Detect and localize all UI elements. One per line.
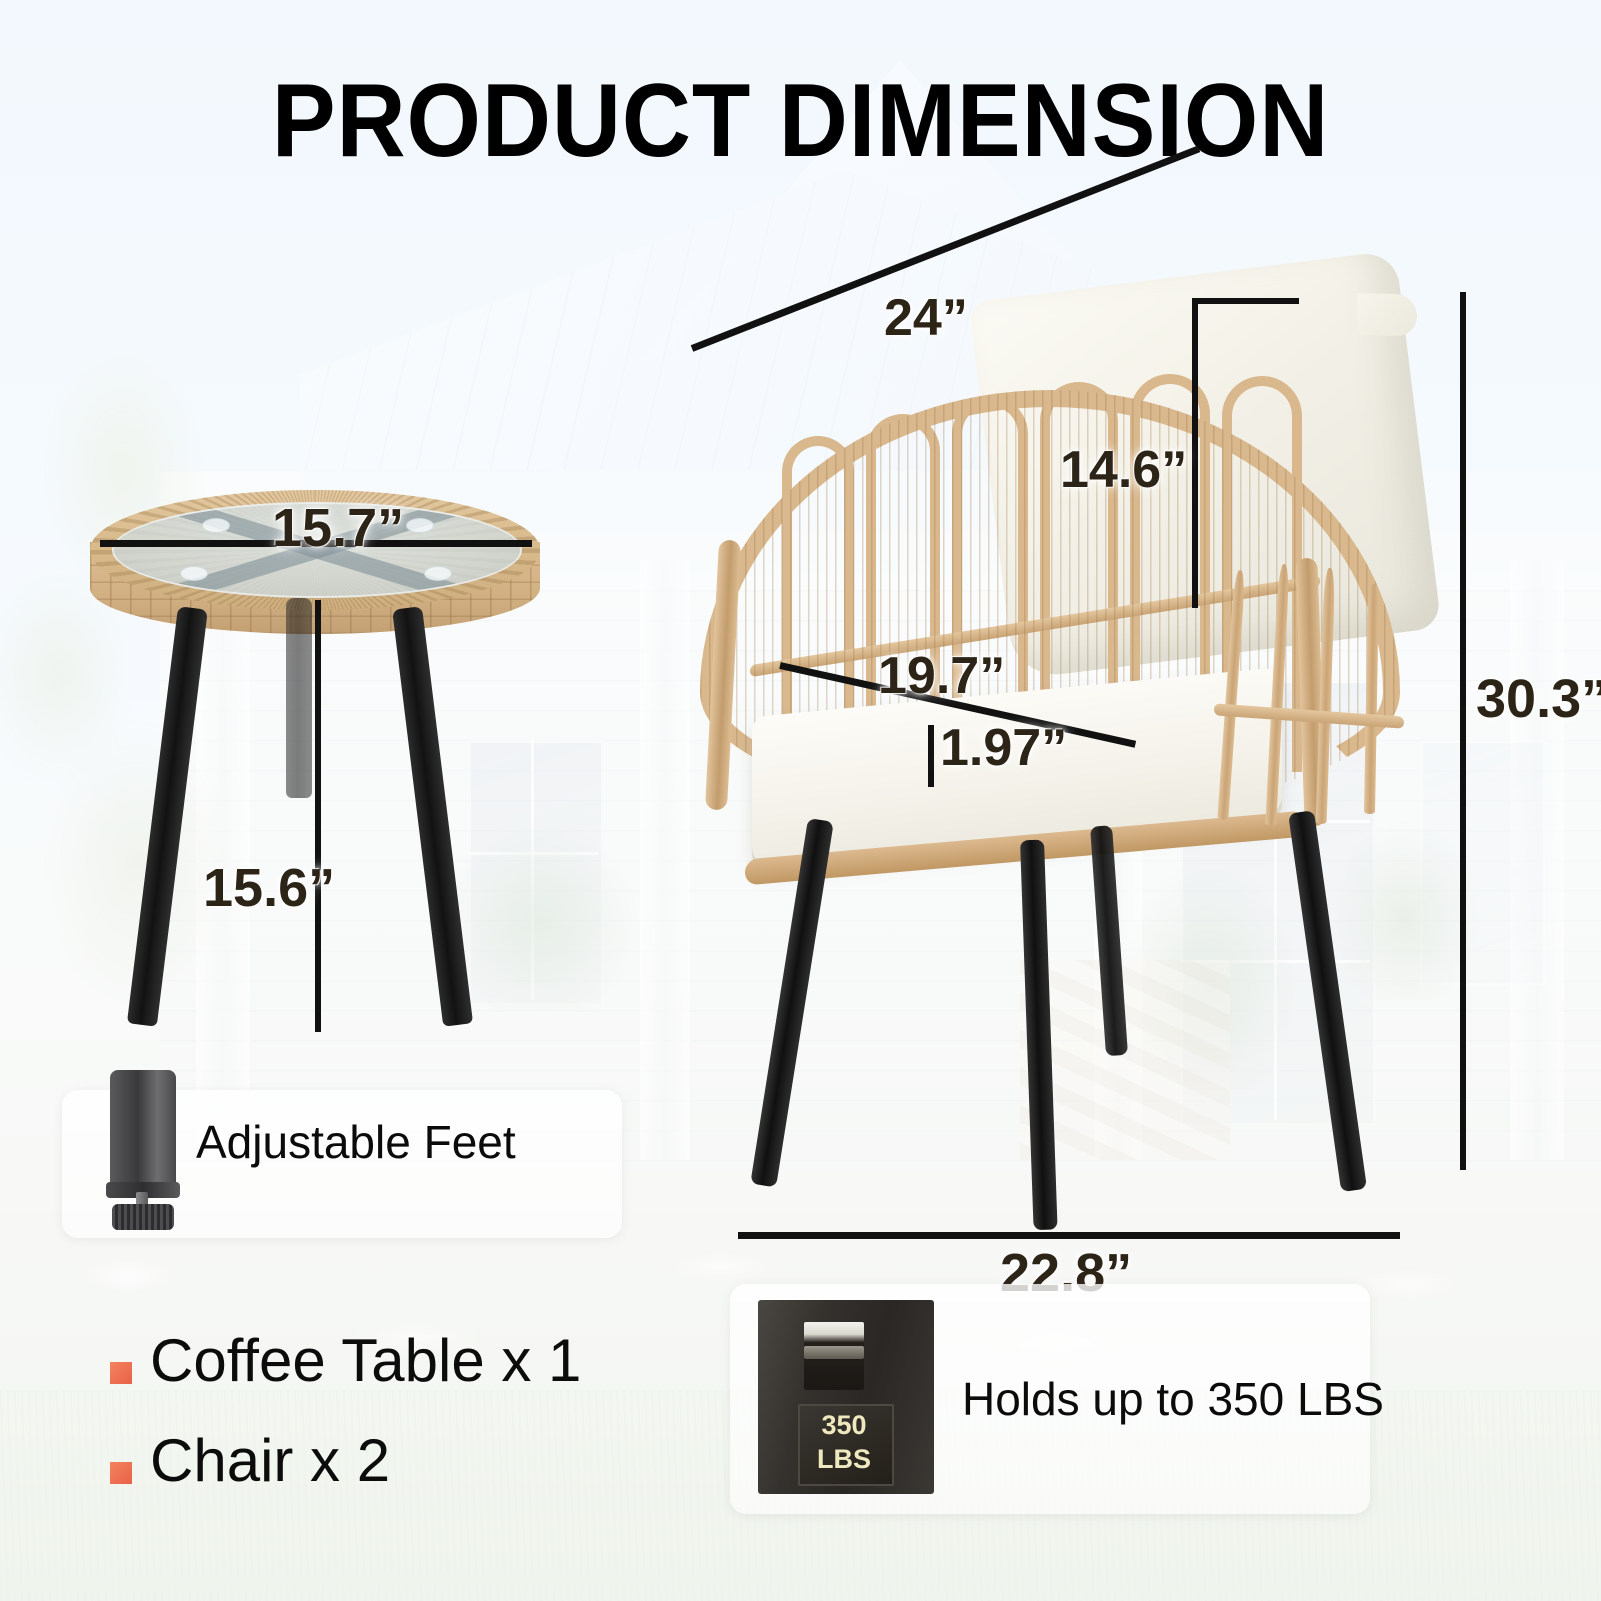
back-height-bracket-top	[1195, 298, 1299, 304]
chair-leg-rear-left	[1090, 825, 1128, 1056]
side-slat	[1217, 570, 1245, 820]
chair-leg-front-right	[1020, 840, 1058, 1231]
back-height-line	[1192, 298, 1198, 608]
list-bullet-icon	[110, 1362, 132, 1384]
chair-illustration	[690, 240, 1450, 1200]
chair-total-height-label: 30.3”	[1476, 668, 1601, 730]
table-height-line	[315, 600, 321, 1032]
contents-item-coffee-table: Coffee Table x 1	[150, 1326, 581, 1395]
table-diameter-label: 15.7”	[272, 497, 404, 559]
foot-body	[110, 1070, 176, 1188]
weight-capacity-label: Holds up to 350 LBS	[962, 1372, 1384, 1426]
cushion-thickness-label: 1.97”	[940, 718, 1067, 778]
glass-pad	[406, 518, 434, 533]
chair-total-height-line	[1460, 292, 1466, 1170]
glass-pad	[202, 518, 230, 533]
chair-width-line	[738, 1232, 1400, 1239]
foot-adjuster-disc	[112, 1204, 174, 1230]
adjustable-feet-label: Adjustable Feet	[196, 1115, 516, 1169]
side-slat	[1316, 568, 1336, 824]
table-leg-rear	[286, 598, 312, 798]
page-title: PRODUCT DIMENSION	[64, 62, 1537, 181]
chair-back-height-label: 14.6”	[1060, 440, 1187, 500]
weight-block-unit: LBS	[817, 1444, 871, 1474]
side-slat	[1364, 584, 1379, 814]
table-leg	[127, 606, 208, 1027]
cushion-thickness-line	[928, 725, 934, 787]
chair-depth-label: 24”	[884, 288, 968, 348]
weight-block-value: 350	[821, 1410, 866, 1440]
weight-block-handle-bar	[804, 1346, 864, 1359]
glass-pad	[424, 566, 452, 581]
list-bullet-icon	[110, 1462, 132, 1484]
glass-pad	[180, 566, 208, 581]
infographic-canvas: 235 PRODUCT DIMENSION	[0, 0, 1601, 1601]
weight-block-icon: 350 LBS	[758, 1300, 934, 1494]
side-slat	[1265, 564, 1290, 826]
seat-width-label: 19.7”	[878, 646, 1005, 706]
table-height-label: 15.6”	[203, 857, 335, 919]
weight-block-text: 350 LBS	[798, 1408, 890, 1476]
adjustable-foot-icon	[104, 1070, 182, 1230]
contents-item-chair: Chair x 2	[150, 1426, 390, 1495]
table-leg	[392, 606, 473, 1027]
